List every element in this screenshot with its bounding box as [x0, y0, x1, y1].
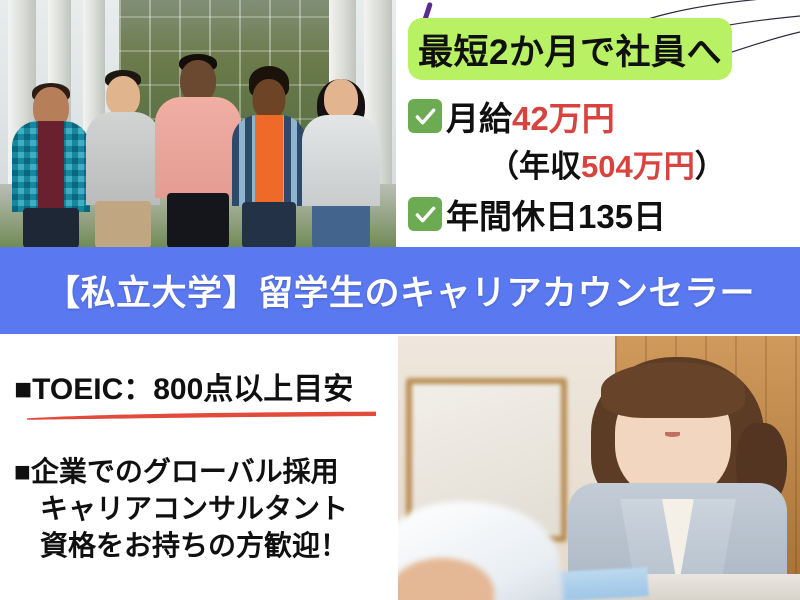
- requirement-qualification: ■企業でのグローバル採用 キャリアコンサルタント 資格をお持ちの方歓迎！: [14, 454, 392, 565]
- head: [106, 76, 140, 116]
- legs: [23, 208, 79, 248]
- headline-badge: 最短2か月で社員へ: [408, 18, 732, 80]
- paren-close: ）: [695, 141, 726, 186]
- job-ad-poster: 最短2か月で社員へ 月給 42万円 （ 年収 504万円 ） 年間休日135日: [0, 0, 800, 600]
- requirements-section: ■TOEIC：800点以上目安 ■企業でのグローバル採用 キャリアコンサルタント…: [0, 334, 398, 600]
- head: [253, 79, 286, 119]
- torso: [86, 112, 160, 206]
- counselor-person: [559, 347, 792, 600]
- offer-annual-label: 年収: [519, 141, 581, 186]
- offer-bullet-holidays: 年間休日135日: [408, 190, 666, 238]
- requirement-line: キャリアコンサルタント: [14, 491, 392, 528]
- offer-bullet-label: 月給: [446, 92, 512, 140]
- head: [324, 79, 358, 119]
- check-icon: [408, 197, 442, 231]
- check-icon: [408, 99, 442, 133]
- requirement-line: 資格をお持ちの方歓迎！: [14, 528, 392, 565]
- paren-open: （: [488, 141, 519, 186]
- bangs: [601, 362, 746, 418]
- offer-highlights: 最短2か月で社員へ 月給 42万円 （ 年収 504万円 ） 年間休日135日: [400, 0, 800, 248]
- students-group: [0, 0, 396, 248]
- student-person: [293, 40, 388, 248]
- headline-badge-label: 最短2か月で社員へ: [418, 24, 722, 75]
- offer-annual-amount: 504万円: [581, 141, 695, 186]
- job-title-banner: 【私立大学】留学生のキャリアカウンセラー: [0, 247, 800, 334]
- job-title-text: 【私立大学】留学生のキャリアカウンセラー: [45, 265, 755, 316]
- offer-bullet-annual: （ 年収 504万円 ）: [488, 141, 726, 186]
- mouth: [665, 432, 680, 437]
- torso: [302, 115, 380, 207]
- offer-bullet-label: 年間休日135日: [446, 190, 666, 238]
- offer-bullet-amount: 42万円: [512, 92, 615, 140]
- red-underline-icon: [26, 410, 378, 421]
- requirement-line: ■企業でのグローバル採用: [14, 454, 392, 491]
- counselor-photo: [398, 336, 800, 600]
- requirement-toeic: ■TOEIC：800点以上目安: [14, 364, 353, 408]
- legs: [242, 202, 296, 248]
- legs: [95, 201, 151, 248]
- legs: [312, 202, 370, 248]
- offer-bullet-salary: 月給 42万円: [408, 92, 615, 140]
- students-photo: [0, 0, 396, 248]
- legs: [167, 193, 229, 248]
- head: [180, 60, 216, 102]
